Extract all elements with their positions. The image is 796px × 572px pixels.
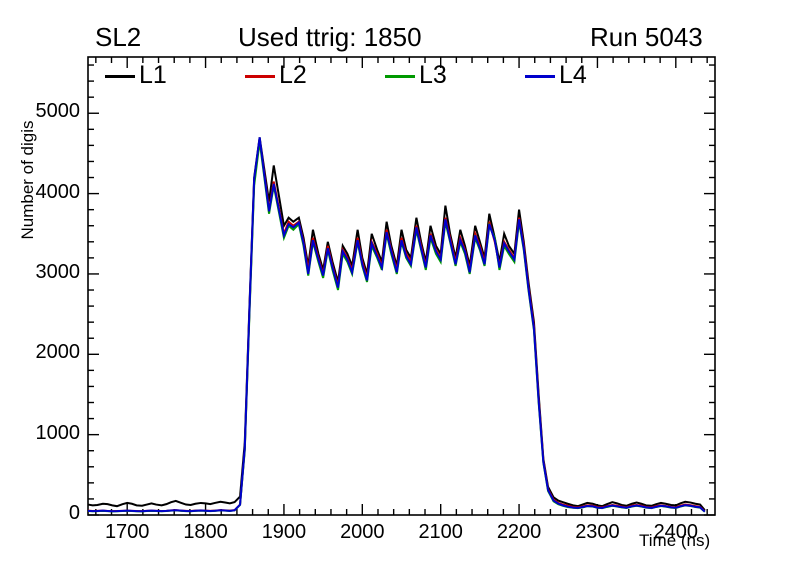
x-tick-label: 1800	[161, 521, 251, 544]
legend-swatch-l1	[105, 75, 135, 78]
x-tick-label: 2300	[552, 521, 642, 544]
plot-area	[0, 0, 796, 572]
y-tick-label: 2000	[16, 341, 80, 364]
x-tick-label: 2100	[396, 521, 486, 544]
chart-canvas: SL2 Used ttrig: 1850 Run 5043 Number of …	[0, 0, 796, 572]
y-tick-label: 0	[16, 502, 80, 525]
axis-ticks	[88, 57, 715, 515]
x-tick-label: 1700	[82, 521, 172, 544]
x-tick-label: 2400	[631, 521, 721, 544]
y-tick-label: 4000	[16, 181, 80, 204]
legend-swatch-l3	[385, 75, 415, 78]
series-line-l1	[88, 137, 705, 510]
series-line-l2	[88, 139, 705, 511]
series-line-l4	[88, 137, 705, 511]
x-tick-label: 2200	[474, 521, 564, 544]
legend-label: L3	[419, 61, 447, 90]
legend-label: L1	[139, 61, 167, 90]
legend-swatch-l2	[245, 75, 275, 78]
plot-frame	[88, 57, 715, 515]
y-tick-label: 1000	[16, 422, 80, 445]
x-tick-label: 2000	[317, 521, 407, 544]
series-line-l3	[88, 141, 705, 511]
legend-label: L4	[559, 61, 587, 90]
x-tick-label: 1900	[239, 521, 329, 544]
y-tick-label: 3000	[16, 261, 80, 284]
legend-swatch-l4	[525, 75, 555, 78]
y-tick-label: 5000	[16, 100, 80, 123]
legend-label: L2	[279, 61, 307, 90]
